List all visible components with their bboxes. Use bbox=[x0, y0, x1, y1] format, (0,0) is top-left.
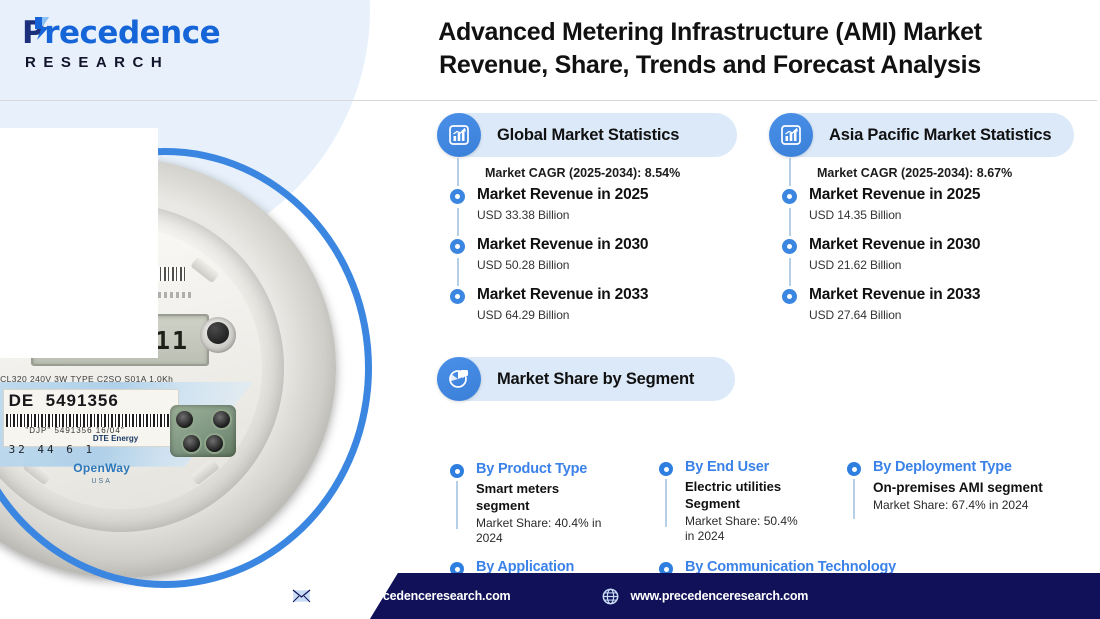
brand-logo[interactable]: Precedence RESEARCH bbox=[22, 18, 220, 71]
segment-category: By End User bbox=[685, 459, 860, 476]
globe-icon bbox=[602, 588, 619, 605]
apac-stat-row: Market Revenue in 2030 USD 21.62 Billion bbox=[769, 236, 1074, 286]
asia-pacific-market-statistics-panel: Asia Pacific Market Statistics Market CA… bbox=[769, 113, 1074, 326]
segment-connector bbox=[456, 481, 458, 529]
smart-meter-image: 004 055 11 CL320 240V 3W TYPE C2SO S01A … bbox=[0, 148, 388, 596]
timeline-connector bbox=[457, 208, 459, 236]
stat-heading: Market Revenue in 2030 bbox=[809, 236, 1074, 254]
stat-value: USD 21.62 Billion bbox=[809, 258, 1074, 272]
segment-bullet-icon bbox=[659, 462, 673, 476]
segment-share: Market Share: 40.4% in 2024 bbox=[476, 516, 626, 547]
logo-subtitle: RESEARCH bbox=[25, 54, 220, 71]
bar-chart-growth-icon bbox=[769, 113, 813, 157]
footer-contacts: sales@precedenceresearch.com www.precede… bbox=[0, 573, 1100, 619]
segment-name: Electric utilities Segment bbox=[685, 479, 795, 512]
timeline-bullet-icon bbox=[450, 189, 465, 204]
segment-item-end-user: By End User Electric utilities Segment M… bbox=[659, 459, 860, 545]
page-title: Advanced Metering Infrastructure (AMI) M… bbox=[360, 16, 1060, 82]
infographic-page: Precedence RESEARCH Advanced Metering In… bbox=[0, 0, 1100, 619]
timeline-bullet-icon bbox=[450, 289, 465, 304]
stat-value: USD 64.29 Billion bbox=[477, 308, 737, 322]
global-timeline: Market Revenue in 2025 USD 33.38 Billion… bbox=[437, 186, 737, 326]
timeline-connector bbox=[457, 158, 459, 186]
segment-category: By Deployment Type bbox=[873, 459, 1100, 476]
segment-item-deployment-type: By Deployment Type On-premises AMI segme… bbox=[847, 459, 1100, 513]
market-share-by-segment-panel: Market Share by Segment By Product Type … bbox=[437, 357, 1077, 579]
segment-item-product-type: By Product Type Smart meters segment Mar… bbox=[450, 461, 686, 547]
global-stat-row: Market Revenue in 2033 USD 64.29 Billion bbox=[437, 286, 737, 326]
apac-cagr-text: Market CAGR (2025-2034): 8.67% bbox=[817, 166, 1074, 180]
global-stat-row: Market Revenue in 2030 USD 50.28 Billion bbox=[437, 236, 737, 286]
global-market-statistics-panel: Global Market Statistics Market CAGR (20… bbox=[437, 113, 737, 326]
global-cagr-text: Market CAGR (2025-2034): 8.54% bbox=[485, 166, 737, 180]
stat-heading: Market Revenue in 2025 bbox=[477, 186, 737, 204]
global-panel-title: Global Market Statistics bbox=[497, 126, 679, 145]
segment-bullet-icon bbox=[450, 464, 464, 478]
timeline-connector bbox=[457, 258, 459, 286]
footer-email[interactable]: sales@precedenceresearch.com bbox=[292, 589, 511, 603]
apac-stat-row: Market Revenue in 2033 USD 27.64 Billion bbox=[769, 286, 1074, 326]
timeline-connector bbox=[789, 208, 791, 236]
title-line-2: Revenue, Share, Trends and Forecast Anal… bbox=[360, 49, 1060, 82]
timeline-bullet-icon bbox=[782, 189, 797, 204]
ring-mask bbox=[0, 128, 158, 358]
global-stat-row: Market Revenue in 2025 USD 33.38 Billion bbox=[437, 186, 737, 236]
header-divider bbox=[0, 100, 1100, 101]
segment-bullet-icon bbox=[847, 462, 861, 476]
timeline-connector bbox=[789, 158, 791, 186]
bar-chart-growth-glyph bbox=[779, 123, 803, 147]
segment-connector bbox=[853, 479, 855, 519]
segment-name: On-premises AMI segment bbox=[873, 479, 1100, 496]
pie-chart-icon bbox=[437, 357, 481, 401]
stat-heading: Market Revenue in 2025 bbox=[809, 186, 1074, 204]
pie-chart-glyph bbox=[447, 367, 471, 391]
apac-timeline: Market Revenue in 2025 USD 14.35 Billion… bbox=[769, 186, 1074, 326]
segment-panel-header: Market Share by Segment bbox=[437, 357, 735, 401]
stat-value: USD 27.64 Billion bbox=[809, 308, 1074, 322]
stat-value: USD 14.35 Billion bbox=[809, 208, 1074, 222]
segment-share: Market Share: 50.4% in 2024 bbox=[685, 514, 810, 545]
segment-name: Smart meters segment bbox=[476, 481, 596, 514]
envelope-icon bbox=[292, 589, 311, 603]
footer-website-text: www.precedenceresearch.com bbox=[630, 589, 808, 603]
apac-stat-row: Market Revenue in 2025 USD 14.35 Billion bbox=[769, 186, 1074, 236]
timeline-bullet-icon bbox=[782, 289, 797, 304]
segment-connector bbox=[665, 479, 667, 527]
segment-grid: By Product Type Smart meters segment Mar… bbox=[437, 409, 1077, 579]
footer-email-text: sales@precedenceresearch.com bbox=[322, 589, 511, 603]
global-panel-header: Global Market Statistics bbox=[437, 113, 737, 157]
logo-mark-icon bbox=[33, 15, 55, 41]
footer-website[interactable]: www.precedenceresearch.com bbox=[602, 588, 808, 605]
bar-chart-growth-icon bbox=[437, 113, 481, 157]
stat-heading: Market Revenue in 2030 bbox=[477, 236, 737, 254]
apac-panel-title: Asia Pacific Market Statistics bbox=[829, 126, 1051, 145]
segment-panel-title: Market Share by Segment bbox=[497, 370, 694, 389]
timeline-bullet-icon bbox=[450, 239, 465, 254]
timeline-bullet-icon bbox=[782, 239, 797, 254]
stat-heading: Market Revenue in 2033 bbox=[477, 286, 737, 304]
title-line-1: Advanced Metering Infrastructure (AMI) M… bbox=[360, 16, 1060, 49]
timeline-connector bbox=[789, 258, 791, 286]
logo-rest: recedence bbox=[44, 15, 220, 51]
segment-share: Market Share: 67.4% in 2024 bbox=[873, 498, 1100, 514]
bar-chart-growth-glyph bbox=[447, 123, 471, 147]
stat-heading: Market Revenue in 2033 bbox=[809, 286, 1074, 304]
stat-value: USD 50.28 Billion bbox=[477, 258, 737, 272]
stat-value: USD 33.38 Billion bbox=[477, 208, 737, 222]
segment-category: By Product Type bbox=[476, 461, 686, 478]
apac-panel-header: Asia Pacific Market Statistics bbox=[769, 113, 1074, 157]
